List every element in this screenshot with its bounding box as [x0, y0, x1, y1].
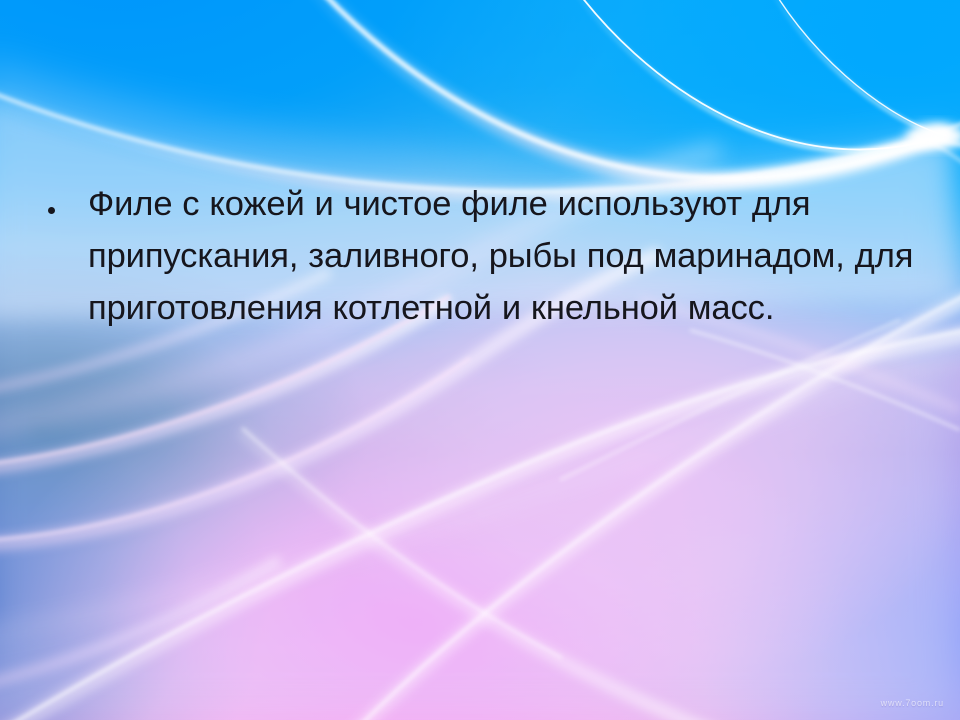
bullet-marker — [48, 178, 88, 218]
watermark: www.7oom.ru — [881, 698, 944, 708]
slide-body-text: Филе с кожей и чистое филе используют дл… — [48, 178, 920, 334]
background-blue-bottom-left — [0, 0, 960, 720]
background-light-ribbons — [0, 0, 960, 720]
presentation-slide: Филе с кожей и чистое филе используют дл… — [0, 0, 960, 720]
background-teal-mid-left — [0, 0, 960, 720]
bullet-dot-icon — [48, 207, 55, 214]
background-pink-mid-right — [0, 0, 960, 720]
body-paragraph: Филе с кожей и чистое филе используют дл… — [88, 178, 920, 334]
background-periwinkle-bottom-right — [0, 0, 960, 720]
background-blue-top-left — [0, 0, 960, 720]
background-pink-core — [0, 0, 960, 720]
background-blue-top-right — [0, 0, 960, 720]
